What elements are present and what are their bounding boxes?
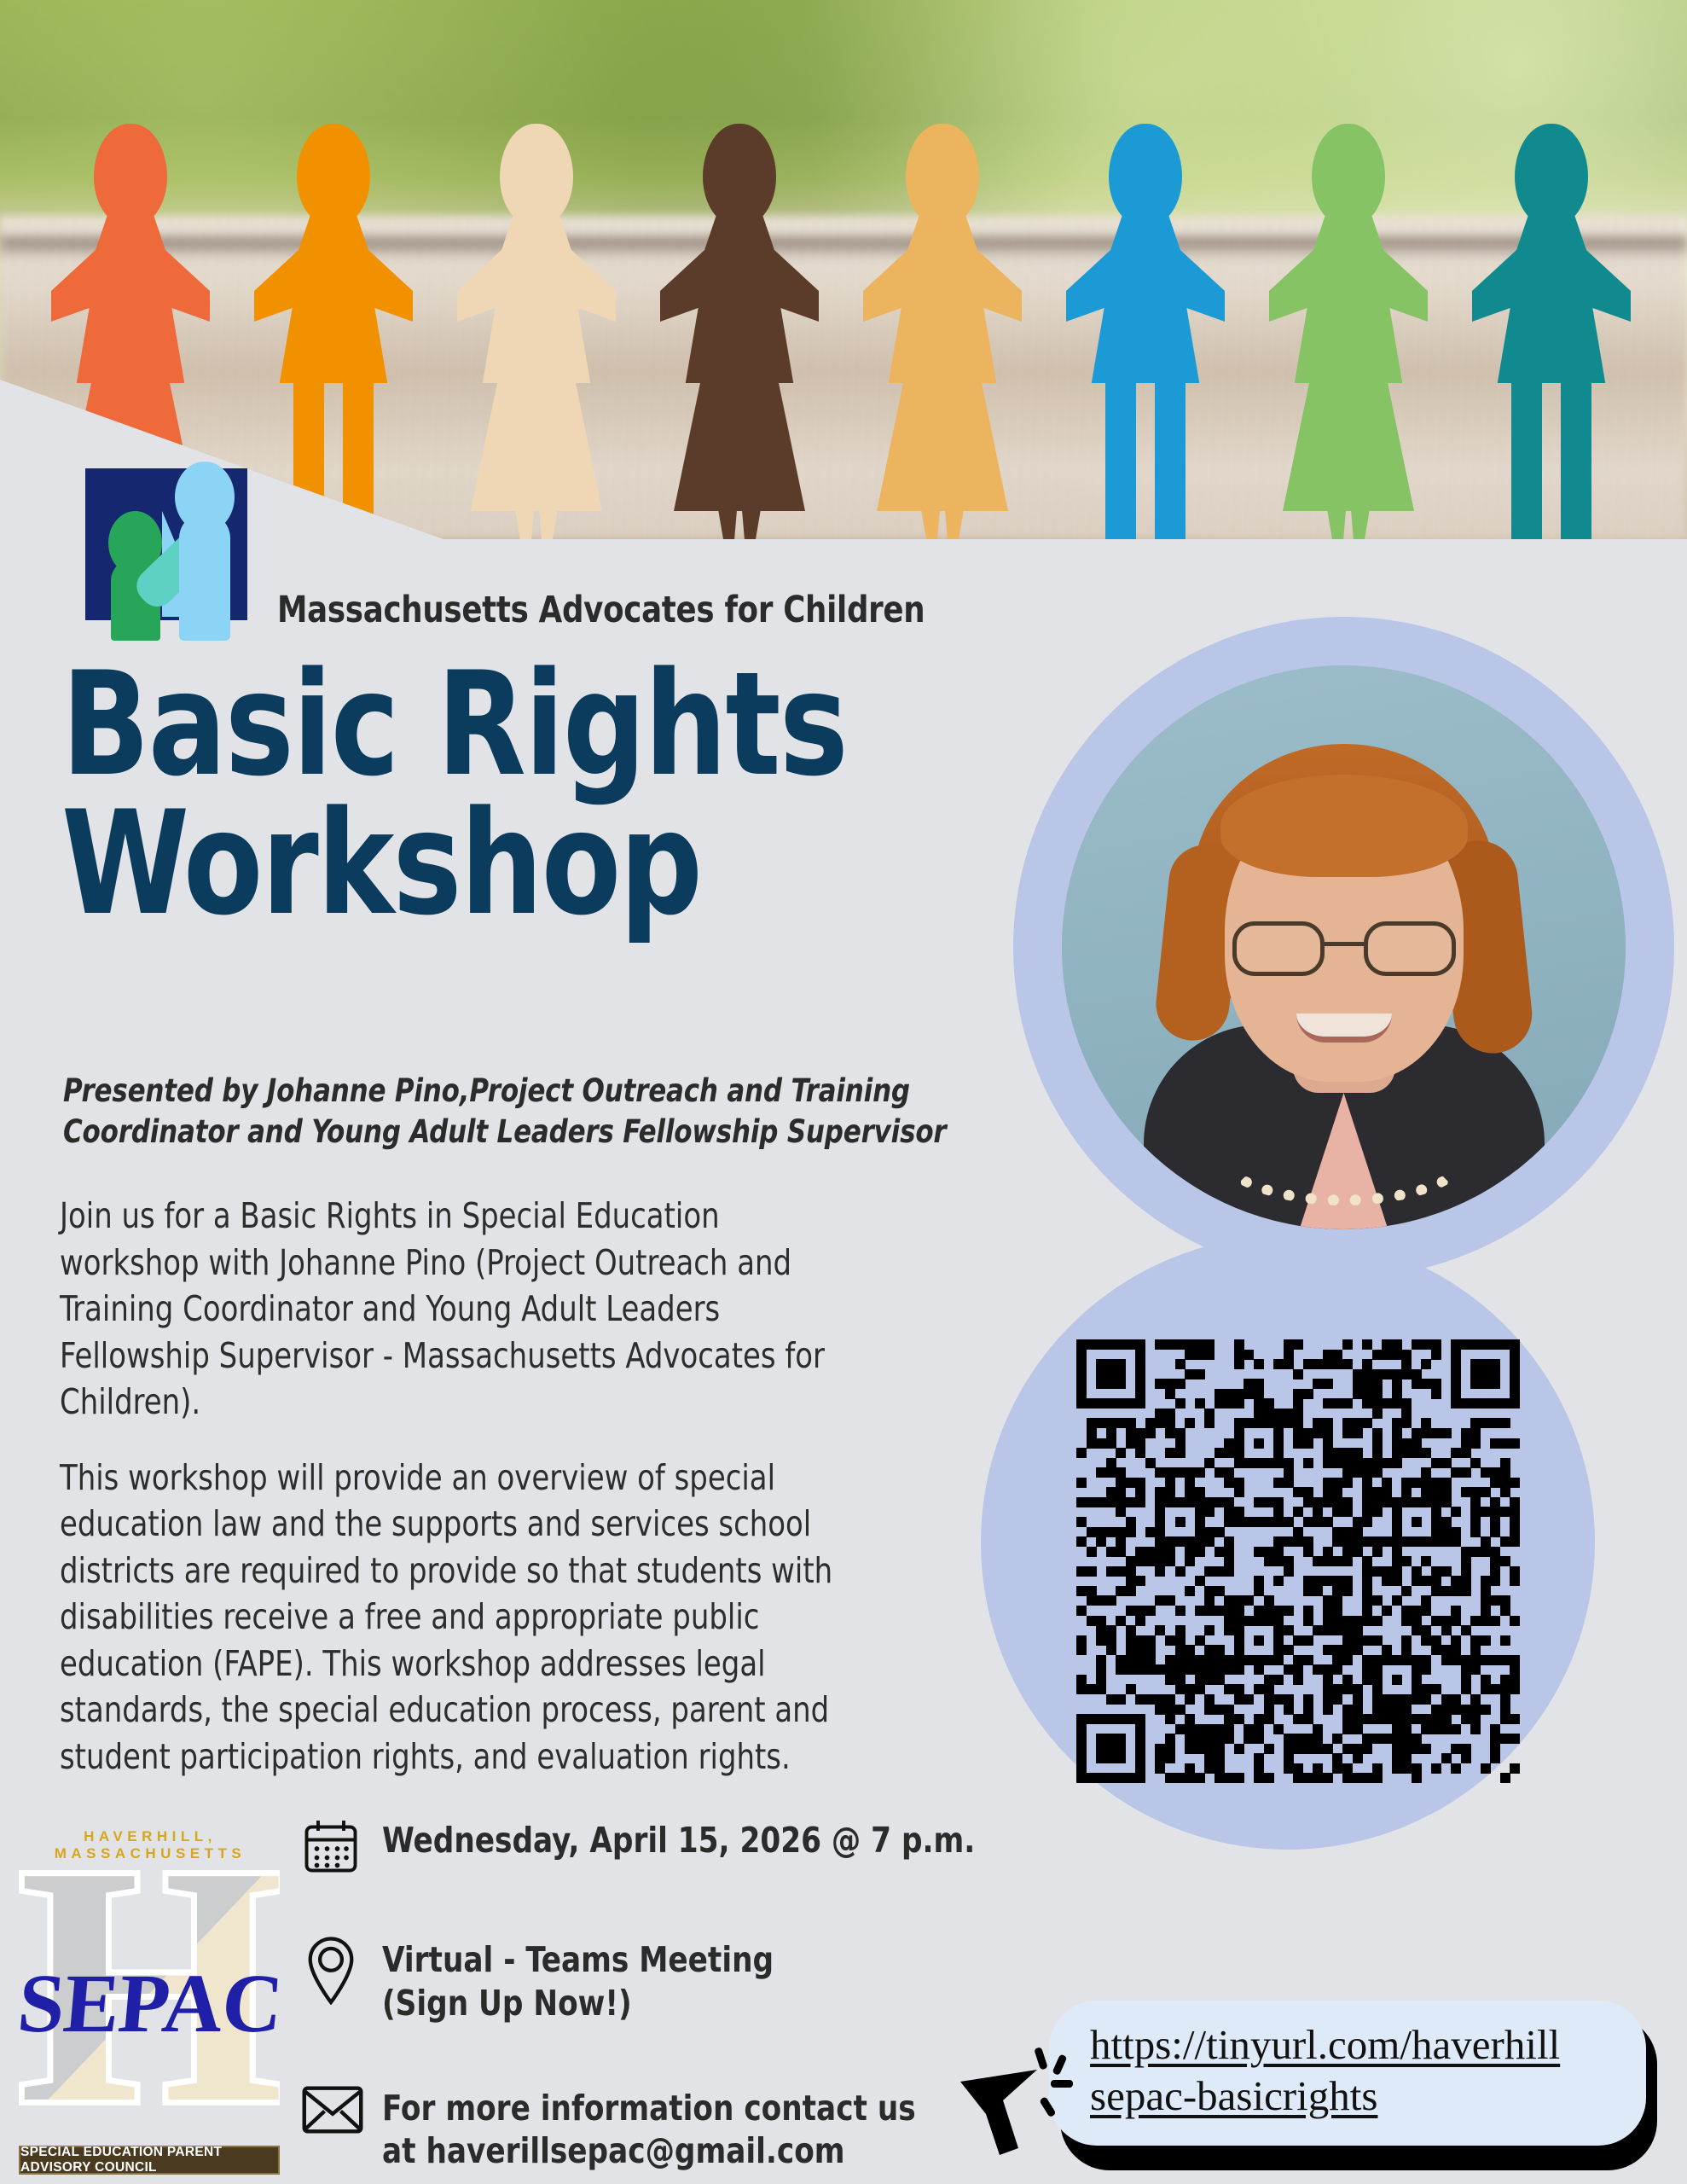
- calendar-icon: [300, 1815, 382, 1877]
- wooden-figure-head: [1109, 124, 1182, 226]
- presenter-credit-line-1: Presented by Johanne Pino,Project Outrea…: [63, 1071, 952, 1112]
- wooden-figure-leg-left: [1511, 371, 1542, 539]
- url-callout[interactable]: https://tinyurl.com/haverhill sepac-basi…: [1049, 2001, 1646, 2146]
- wooden-figure: [1267, 124, 1429, 539]
- wooden-figure-leg-right: [1155, 371, 1186, 539]
- wooden-figure-head: [500, 124, 573, 226]
- portrait-glasses-bridge: [1325, 942, 1364, 946]
- wooden-figure-head: [703, 124, 776, 226]
- wooden-figure-leg-left: [293, 371, 324, 539]
- page-title-line-1: Basic Rights: [61, 655, 929, 794]
- qr-code[interactable]: [1076, 1339, 1520, 1783]
- wooden-figure-torso: [863, 212, 1022, 383]
- wooden-figure-leg-left: [1105, 371, 1136, 539]
- wooden-figure-leg-right: [1561, 371, 1591, 539]
- sepac-tagline: SPECIAL EDUCATION PARENT ADVISORY COUNCI…: [19, 2146, 280, 2175]
- sepac-logo: HAVERHILL, MASSACHUSETTS H H SEPAC SPECI…: [7, 1828, 288, 2180]
- wooden-figure: [1064, 124, 1226, 539]
- wooden-figure-leg-right: [343, 371, 374, 539]
- event-contact-text: For more information contact us at haver…: [382, 2083, 916, 2174]
- wooden-figure-head: [94, 124, 167, 226]
- registration-url[interactable]: https://tinyurl.com/haverhill sepac-basi…: [1090, 2019, 1619, 2122]
- portrait-pearl-necklace: [1216, 1103, 1472, 1205]
- body-copy: Join us for a Basic Rights in Special Ed…: [60, 1193, 868, 1780]
- wooden-figure-head: [1515, 124, 1588, 226]
- page-title-line-2: Workshop: [61, 794, 929, 933]
- wooden-figure-skirt: [674, 371, 805, 539]
- portrait-lens-right: [1364, 921, 1456, 976]
- mac-logo-adult-body-icon: [179, 513, 230, 641]
- body-paragraph-2: This workshop will provide an overview o…: [60, 1455, 868, 1780]
- presenter-credit: Presented by Johanne Pino,Project Outrea…: [63, 1071, 952, 1153]
- registration-url-line-1[interactable]: https://tinyurl.com/haverhill: [1090, 2021, 1560, 2068]
- organization-name: Massachusetts Advocates for Children: [277, 589, 925, 631]
- wooden-figure-torso: [457, 212, 616, 383]
- wooden-figure-torso: [254, 212, 413, 383]
- envelope-icon: [300, 2083, 382, 2136]
- page-title: Basic Rights Workshop: [61, 655, 929, 933]
- wooden-figure-head: [1312, 124, 1385, 226]
- portrait-lens-left: [1232, 921, 1325, 976]
- wooden-figure-torso: [660, 212, 819, 383]
- event-date-row: Wednesday, April 15, 2026 @ 7 p.m.: [300, 1815, 1238, 1877]
- wooden-figure-skirt: [1283, 371, 1414, 539]
- wooden-figure: [1470, 124, 1632, 539]
- wooden-figure: [455, 124, 617, 539]
- wooden-figure-torso: [51, 212, 210, 383]
- wooden-figure-torso: [1066, 212, 1225, 383]
- wooden-figure-torso: [1472, 212, 1631, 383]
- registration-url-line-2[interactable]: sepac-basicrights: [1090, 2072, 1377, 2119]
- portrait-smile: [1296, 1014, 1392, 1043]
- event-date-text: Wednesday, April 15, 2026 @ 7 p.m.: [382, 1815, 975, 1862]
- wooden-figure-torso: [1269, 212, 1428, 383]
- wooden-figure: [861, 124, 1023, 539]
- mac-logo: [70, 455, 264, 621]
- click-cursor-icon: [955, 2047, 1100, 2184]
- wooden-figure-head: [906, 124, 979, 226]
- wooden-figure-skirt: [877, 371, 1008, 539]
- portrait-bangs: [1220, 775, 1468, 877]
- body-paragraph-1: Join us for a Basic Rights in Special Ed…: [60, 1193, 868, 1426]
- portrait-glasses-icon: [1232, 921, 1456, 978]
- sepac-wordmark: SEPAC: [11, 1956, 289, 2052]
- wooden-figure-head: [297, 124, 370, 226]
- map-pin-icon: [300, 1935, 382, 2005]
- presenter-portrait: [1062, 665, 1626, 1229]
- event-location-text: Virtual - Teams Meeting (Sign Up Now!): [382, 1935, 774, 2025]
- wooden-figure-skirt: [471, 371, 602, 539]
- wooden-figure: [658, 124, 820, 539]
- presenter-credit-line-2: Coordinator and Young Adult Leaders Fell…: [63, 1112, 952, 1153]
- wooden-figure: [252, 124, 415, 539]
